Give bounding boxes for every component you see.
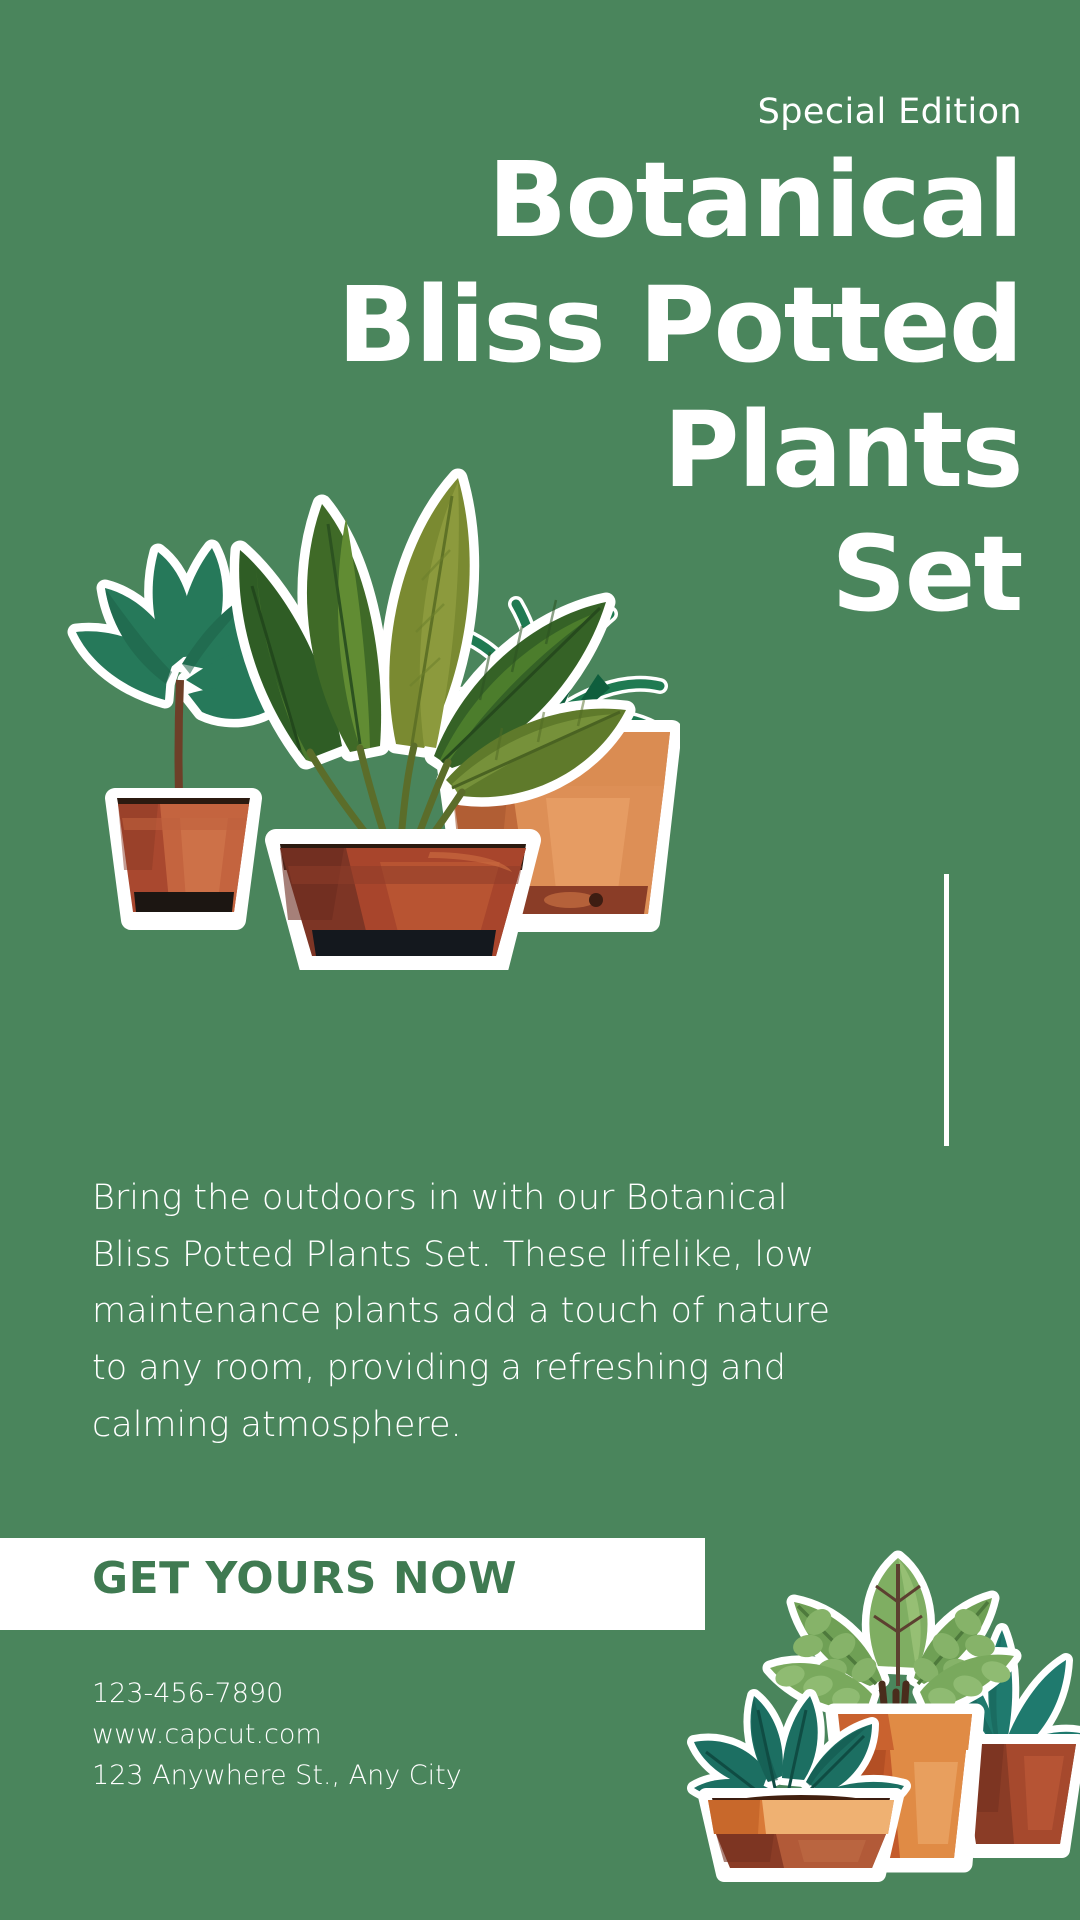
footer-phone[interactable]: 123-456-7890 — [92, 1673, 462, 1714]
footer-contact-block: 123-456-7890 www.capcut.com 123 Anywhere… — [92, 1673, 462, 1796]
three-potted-plants-illustration — [60, 400, 680, 970]
vertical-divider-line — [944, 874, 949, 1146]
special-edition-eyebrow: Special Edition — [758, 92, 1022, 132]
headline-line-2: Bliss Potted — [60, 263, 1022, 388]
body-paragraph: Bring the outdoors in with our Botanical… — [92, 1170, 832, 1453]
footer-website[interactable]: www.capcut.com — [92, 1714, 462, 1755]
poster-canvas: Special Edition Botanical Bliss Potted P… — [0, 0, 1080, 1920]
footer-address: 123 Anywhere St., Any City — [92, 1755, 462, 1796]
bottom-right-potted-plants-cluster — [666, 1544, 1080, 1884]
teal-fan-plant-in-small-pot — [694, 1696, 904, 1874]
get-yours-now-button[interactable]: GET YOURS NOW — [92, 1553, 517, 1604]
headline-line-1: Botanical — [60, 138, 1022, 263]
